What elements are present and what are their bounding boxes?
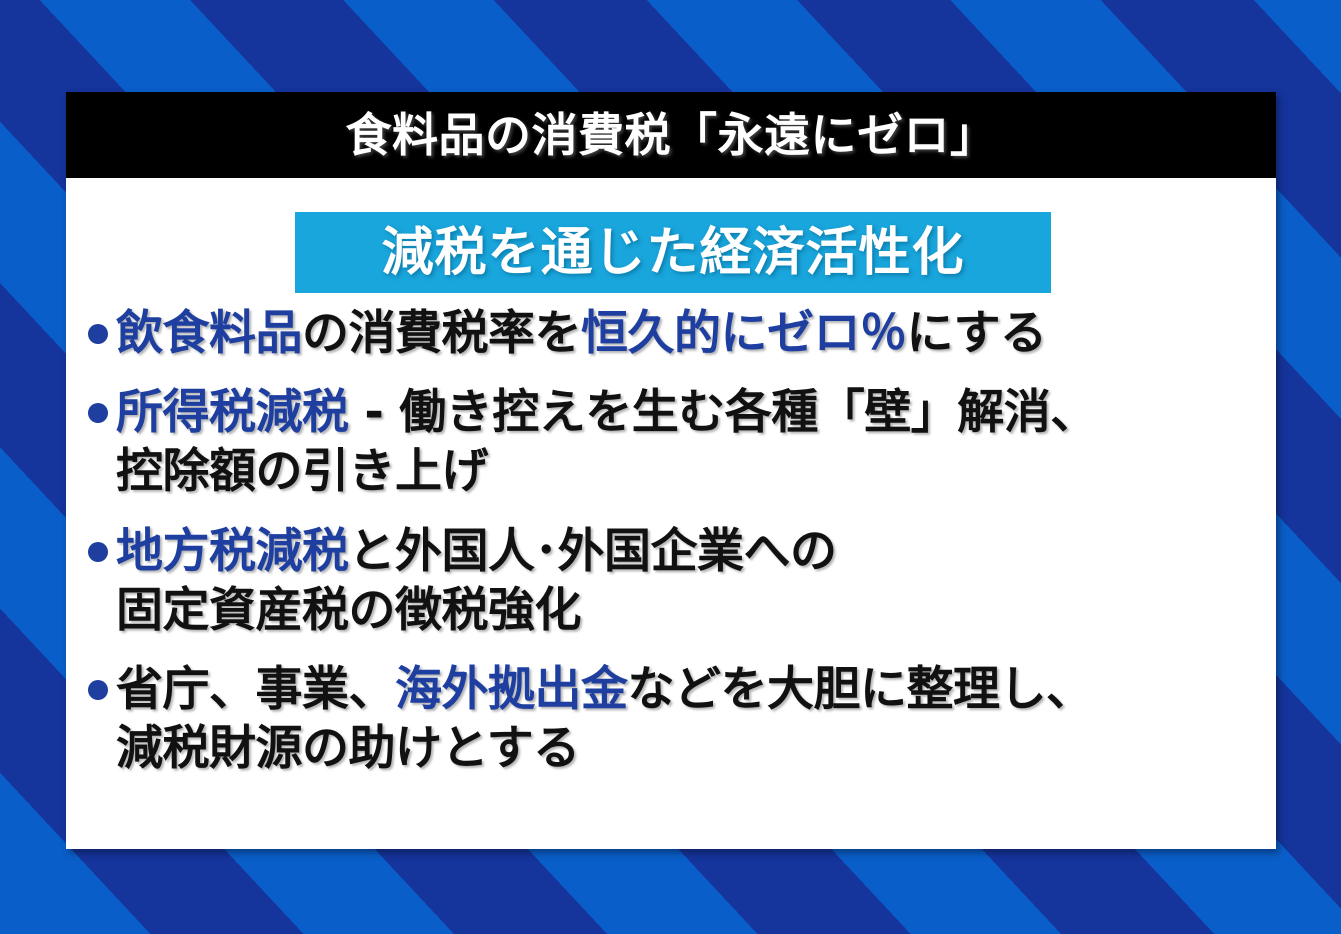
highlight-term: 地方税減税 [116, 524, 349, 579]
bullet-text-line: 省庁、事業、海外拠出金などを大胆に整理し、 [116, 660, 1268, 719]
plain-text: 減税財源の助けとする [116, 721, 580, 776]
highlight-term: 恒久的にゼロ％ [581, 306, 907, 361]
bullet-text-line: 控除額の引き上げ [116, 442, 1268, 501]
bullet-text-line: 飲食料品の消費税率を恒久的にゼロ％にする [116, 304, 1268, 363]
bullet-text-line: 地方税減税と外国人･外国企業への [116, 522, 1268, 581]
subtitle-text: 減税を通じた経済活性化 [381, 227, 964, 279]
highlight-term: 飲食料品 [116, 306, 302, 361]
slide-stage: 食料品の消費税「永遠にゼロ」 減税を通じた経済活性化 飲食料品の消費税率を恒久的… [0, 0, 1341, 934]
plain-text: の消費税率を [302, 306, 581, 361]
plain-text: 固定資産税の徴税強化 [116, 583, 581, 638]
title-bar: 食料品の消費税「永遠にゼロ」 [66, 92, 1276, 178]
bullet-item: 飲食料品の消費税率を恒久的にゼロ％にする [88, 304, 1268, 363]
bullet-item: 所得税減税 - 働き控えを生む各種「壁」解消、控除額の引き上げ [88, 383, 1268, 501]
bullet-dot-icon [88, 403, 108, 423]
plain-text: と外国人･外国企業への [349, 524, 837, 579]
bullet-text: 地方税減税と外国人･外国企業への固定資産税の徴税強化 [116, 522, 1268, 640]
plain-text: 控除額の引き上げ [116, 444, 488, 499]
bullet-text-line: 所得税減税 - 働き控えを生む各種「壁」解消、 [116, 383, 1268, 442]
bullet-list: 飲食料品の消費税率を恒久的にゼロ％にする所得税減税 - 働き控えを生む各種「壁」… [88, 304, 1268, 799]
bullet-item: 地方税減税と外国人･外国企業への固定資産税の徴税強化 [88, 522, 1268, 640]
bullet-text: 飲食料品の消費税率を恒久的にゼロ％にする [116, 304, 1268, 363]
bullet-text-line: 減税財源の助けとする [116, 719, 1268, 778]
bullet-item: 省庁、事業、海外拠出金などを大胆に整理し、減税財源の助けとする [88, 660, 1268, 778]
bullet-dot-icon [88, 680, 108, 700]
highlight-term: 海外拠出金 [395, 662, 628, 717]
plain-text: - 働き控えを生む各種「壁」解消、 [349, 385, 1097, 440]
plain-text: 省庁、事業、 [116, 662, 395, 717]
bullet-dot-icon [88, 542, 108, 562]
bullet-text: 省庁、事業、海外拠出金などを大胆に整理し、減税財源の助けとする [116, 660, 1268, 778]
subtitle-banner: 減税を通じた経済活性化 [295, 212, 1051, 293]
bullet-text-line: 固定資産税の徴税強化 [116, 581, 1268, 640]
bullet-text: 所得税減税 - 働き控えを生む各種「壁」解消、控除額の引き上げ [116, 383, 1268, 501]
content-card: 食料品の消費税「永遠にゼロ」 減税を通じた経済活性化 飲食料品の消費税率を恒久的… [66, 92, 1276, 849]
plain-text: にする [907, 306, 1047, 361]
highlight-term: 所得税減税 [116, 385, 349, 440]
plain-text: などを大胆に整理し、 [628, 662, 1093, 717]
bullet-dot-icon [88, 324, 108, 344]
page-title: 食料品の消費税「永遠にゼロ」 [346, 112, 997, 158]
